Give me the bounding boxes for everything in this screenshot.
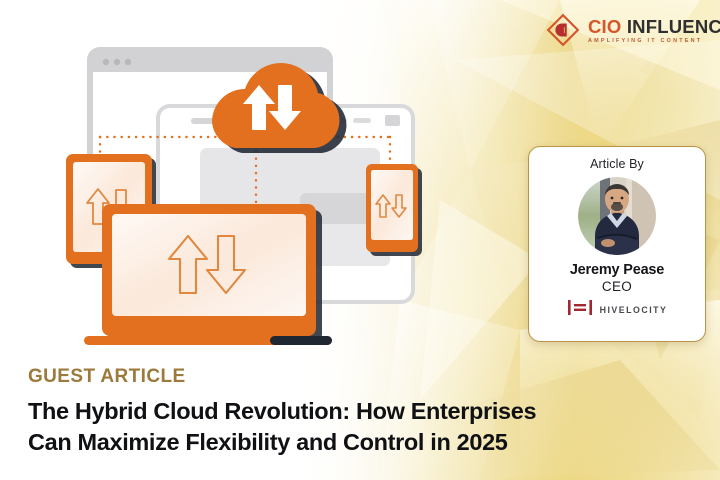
hivelocity-mark-icon <box>567 300 593 320</box>
cio-diamond-logo-icon <box>546 13 580 47</box>
headline-line-1: The Hybrid Cloud Revolution: How Enterpr… <box>28 398 536 424</box>
author-card: Article By <box>528 146 706 342</box>
author-name: Jeremy Pease <box>570 262 664 278</box>
hybrid-cloud-devices-illustration <box>60 38 460 350</box>
company-logo: HIVELOCITY <box>567 300 668 320</box>
article-kicker: GUEST ARTICLE <box>28 366 186 388</box>
author-role: CEO <box>602 279 632 294</box>
company-name: HIVELOCITY <box>600 305 668 315</box>
article-headline: The Hybrid Cloud Revolution: How Enterpr… <box>28 396 668 459</box>
headline-line-2: Can Maximize Flexibility and Control in … <box>28 427 668 458</box>
laptop-sync-icon <box>84 204 332 345</box>
article-by-label: Article By <box>590 157 644 171</box>
brand-tagline: AMPLIFYING IT CONTENT <box>588 39 720 44</box>
brand-logo[interactable]: CIO INFLUENCE AMPLIFYING IT CONTENT <box>546 11 708 49</box>
brand-name-secondary: INFLUENCE <box>627 16 720 37</box>
brand-name-primary: CIO <box>588 16 622 37</box>
brand-logo-text: CIO INFLUENCE AMPLIFYING IT CONTENT <box>588 16 720 45</box>
author-portrait <box>578 177 656 255</box>
cio-influence-article-banner: CIO INFLUENCE AMPLIFYING IT CONTENT <box>0 0 720 480</box>
phone-sync-icon <box>366 164 422 256</box>
